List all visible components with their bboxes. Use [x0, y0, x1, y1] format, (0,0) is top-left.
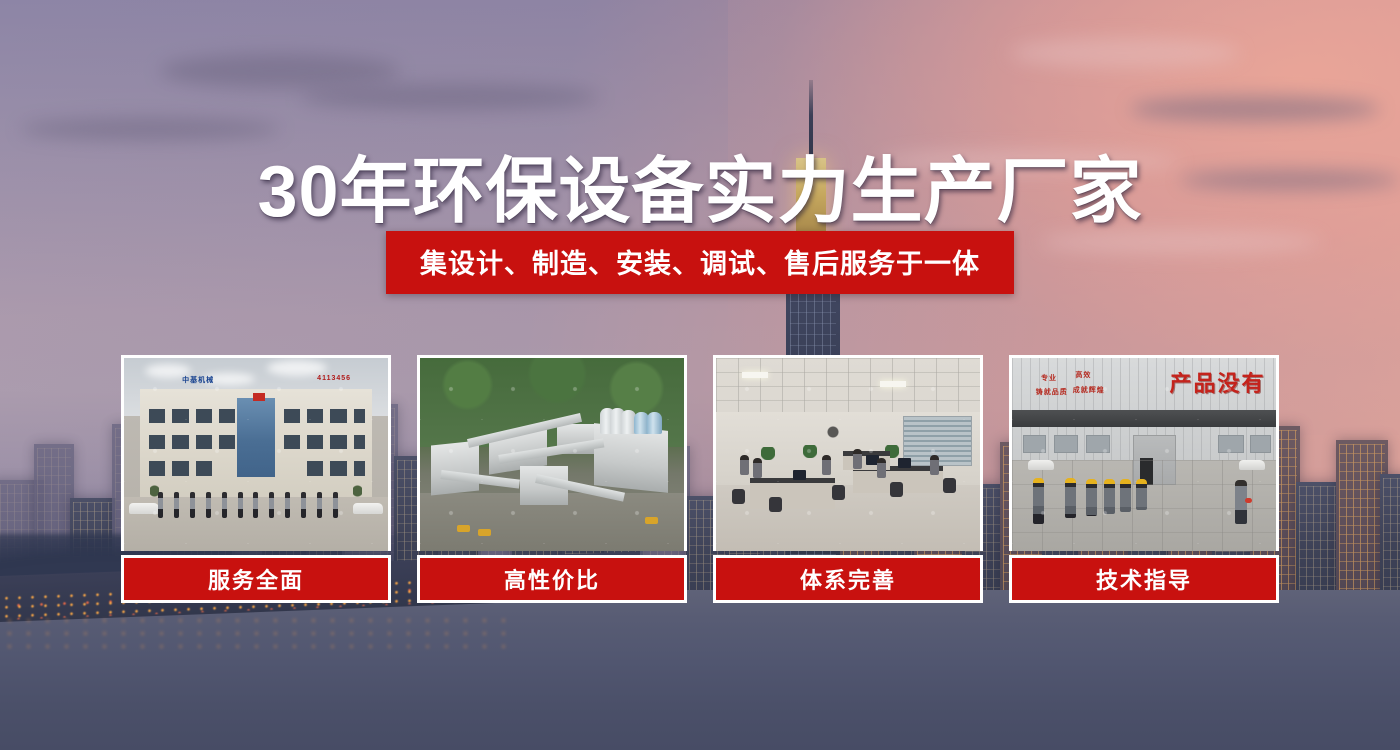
card-caption: 服务全面 [121, 555, 391, 603]
feature-card[interactable]: 产品没有 专业 高效 铸就品质 成就辉煌 [1009, 355, 1279, 605]
card-caption: 体系完善 [713, 555, 983, 603]
cloud-shape [1130, 96, 1380, 122]
building-phone-text: 4113456 [317, 375, 351, 382]
factory-sign-text: 产品没有 [1169, 366, 1265, 398]
cloud-shape [1010, 38, 1240, 68]
cloud-shape [160, 54, 400, 88]
card-photo [417, 355, 687, 551]
water-reflection [0, 614, 520, 654]
flag-icon [253, 393, 265, 401]
card-photo: 产品没有 专业 高效 铸就品质 成就辉煌 [1009, 355, 1279, 551]
feature-card-row: 中基机械 4113456 服务全面 [121, 355, 1279, 605]
cloud-shape [300, 84, 600, 110]
factory-sign-small: 铸就品质 [1036, 387, 1068, 397]
promo-banner: 30年环保设备实力生产厂家 集设计、制造、安装、调试、售后服务于一体 [0, 0, 1400, 750]
page-title: 30年环保设备实力生产厂家 [0, 132, 1400, 237]
wall-logo-icon [822, 420, 844, 440]
card-photo: 中基机械 4113456 [121, 355, 391, 551]
feature-card[interactable]: 高性价比 [417, 355, 687, 605]
card-caption: 技术指导 [1009, 555, 1279, 603]
subtitle-banner: 集设计、制造、安装、调试、售后服务于一体 [386, 231, 1014, 294]
card-caption: 高性价比 [417, 555, 687, 603]
factory-sign-small: 专业 [1041, 373, 1057, 383]
helmet-icon [1245, 498, 1252, 503]
building-sign-text: 中基机械 [182, 375, 214, 385]
factory-sign-small: 高效 [1075, 370, 1091, 380]
feature-card[interactable]: 体系完善 [713, 355, 983, 605]
card-photo [713, 355, 983, 551]
factory-sign-small: 成就辉煌 [1073, 385, 1105, 395]
feature-card[interactable]: 中基机械 4113456 服务全面 [121, 355, 391, 605]
